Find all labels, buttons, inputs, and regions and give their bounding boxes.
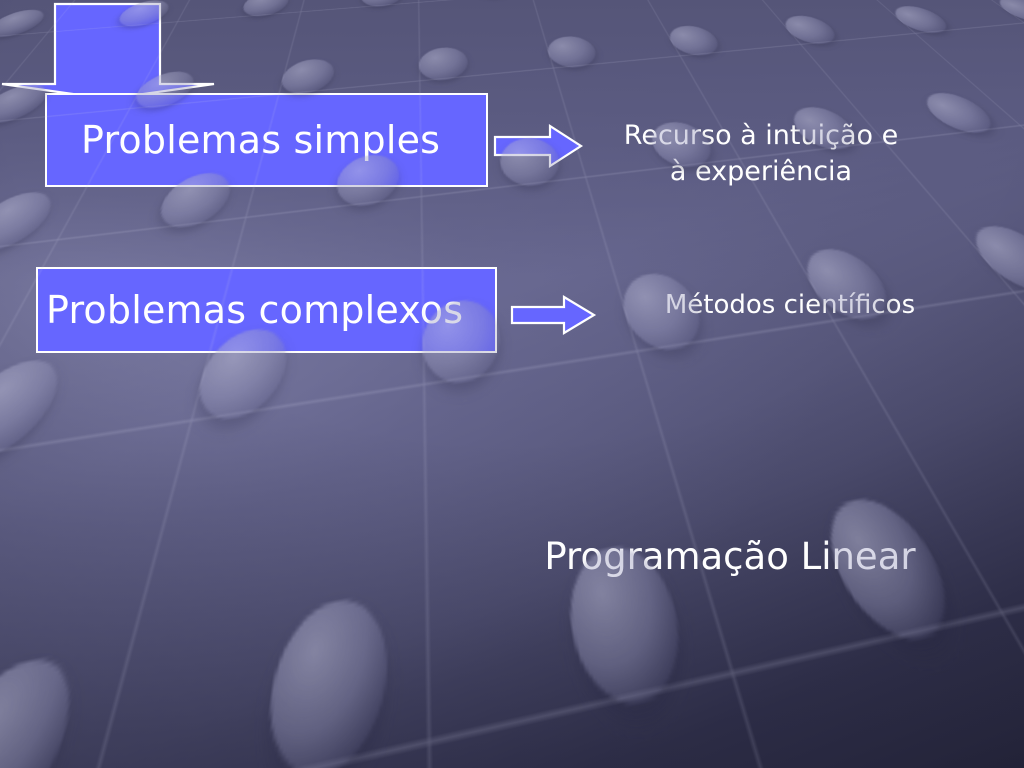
arrow-right-icon [510,295,596,335]
slide-canvas: Problemas simples Recurso à intuição e à… [0,0,1024,768]
concept-box-label: Problemas simples [47,118,440,162]
arrow-down-icon [0,0,216,102]
concept-box-problemas-simples[interactable]: Problemas simples [45,93,488,187]
annotation-intuicao: Recurso à intuição e à experiência [586,118,936,189]
concept-box-label: Problemas complexos [38,288,463,332]
annotation-resultado: Programação Linear [480,535,980,578]
arrow-right-icon [493,124,583,168]
annotation-metodos: Métodos científicos [600,288,980,322]
slide-content: Problemas simples Recurso à intuição e à… [0,0,1024,768]
concept-box-problemas-complexos[interactable]: Problemas complexos [36,267,497,353]
